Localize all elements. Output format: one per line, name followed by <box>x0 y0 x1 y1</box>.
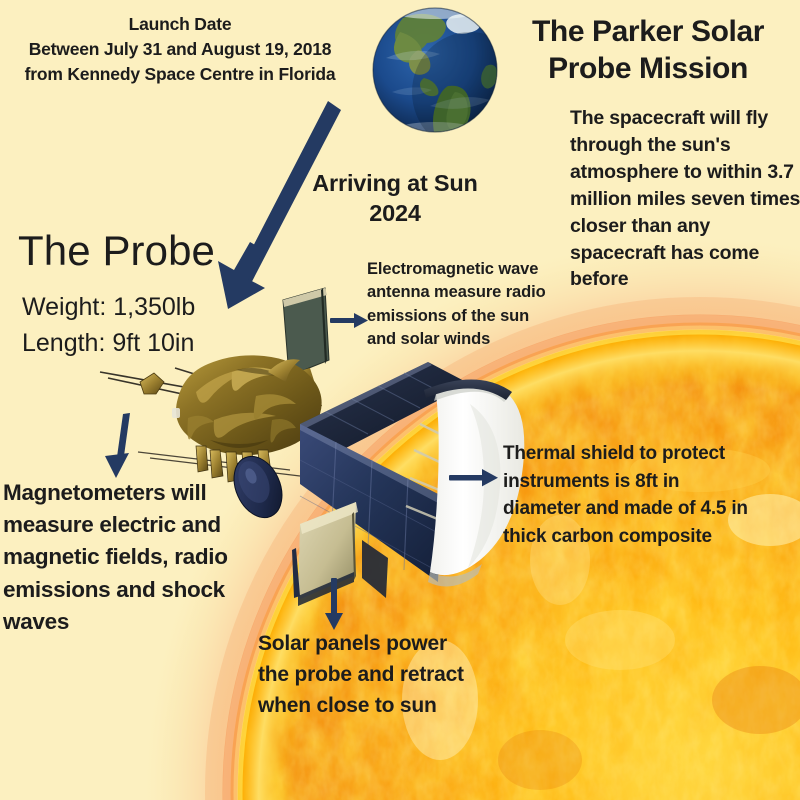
arrow-right-icon-thermal <box>449 469 498 486</box>
page-title: The Parker Solar Probe Mission <box>498 14 798 87</box>
probe-specs: Weight: 1,350lb Length: 9ft 10in <box>22 290 195 361</box>
callout-magnetometers: Magnetometers will measure electric and … <box>3 477 233 638</box>
infographic-poster: Launch Date Between July 31 and August 1… <box>0 0 800 800</box>
arrow-down-icon-magnetometer <box>105 413 130 478</box>
arrow-right-icon-antenna <box>330 313 368 328</box>
arrow-down-icon-solar <box>325 578 343 630</box>
arrival-label: Arriving at Sun 2024 <box>290 168 500 228</box>
mission-description: The spacecraft will fly through the sun'… <box>570 105 800 293</box>
callout-antenna: Electromagnetic wave antenna measure rad… <box>367 258 547 352</box>
callout-solar-panels: Solar panels power the probe and retract… <box>258 628 473 721</box>
launch-date-block: Launch Date Between July 31 and August 1… <box>0 12 360 87</box>
probe-heading: The Probe <box>18 228 215 274</box>
callout-thermal-shield: Thermal shield to protect instruments is… <box>503 440 753 551</box>
